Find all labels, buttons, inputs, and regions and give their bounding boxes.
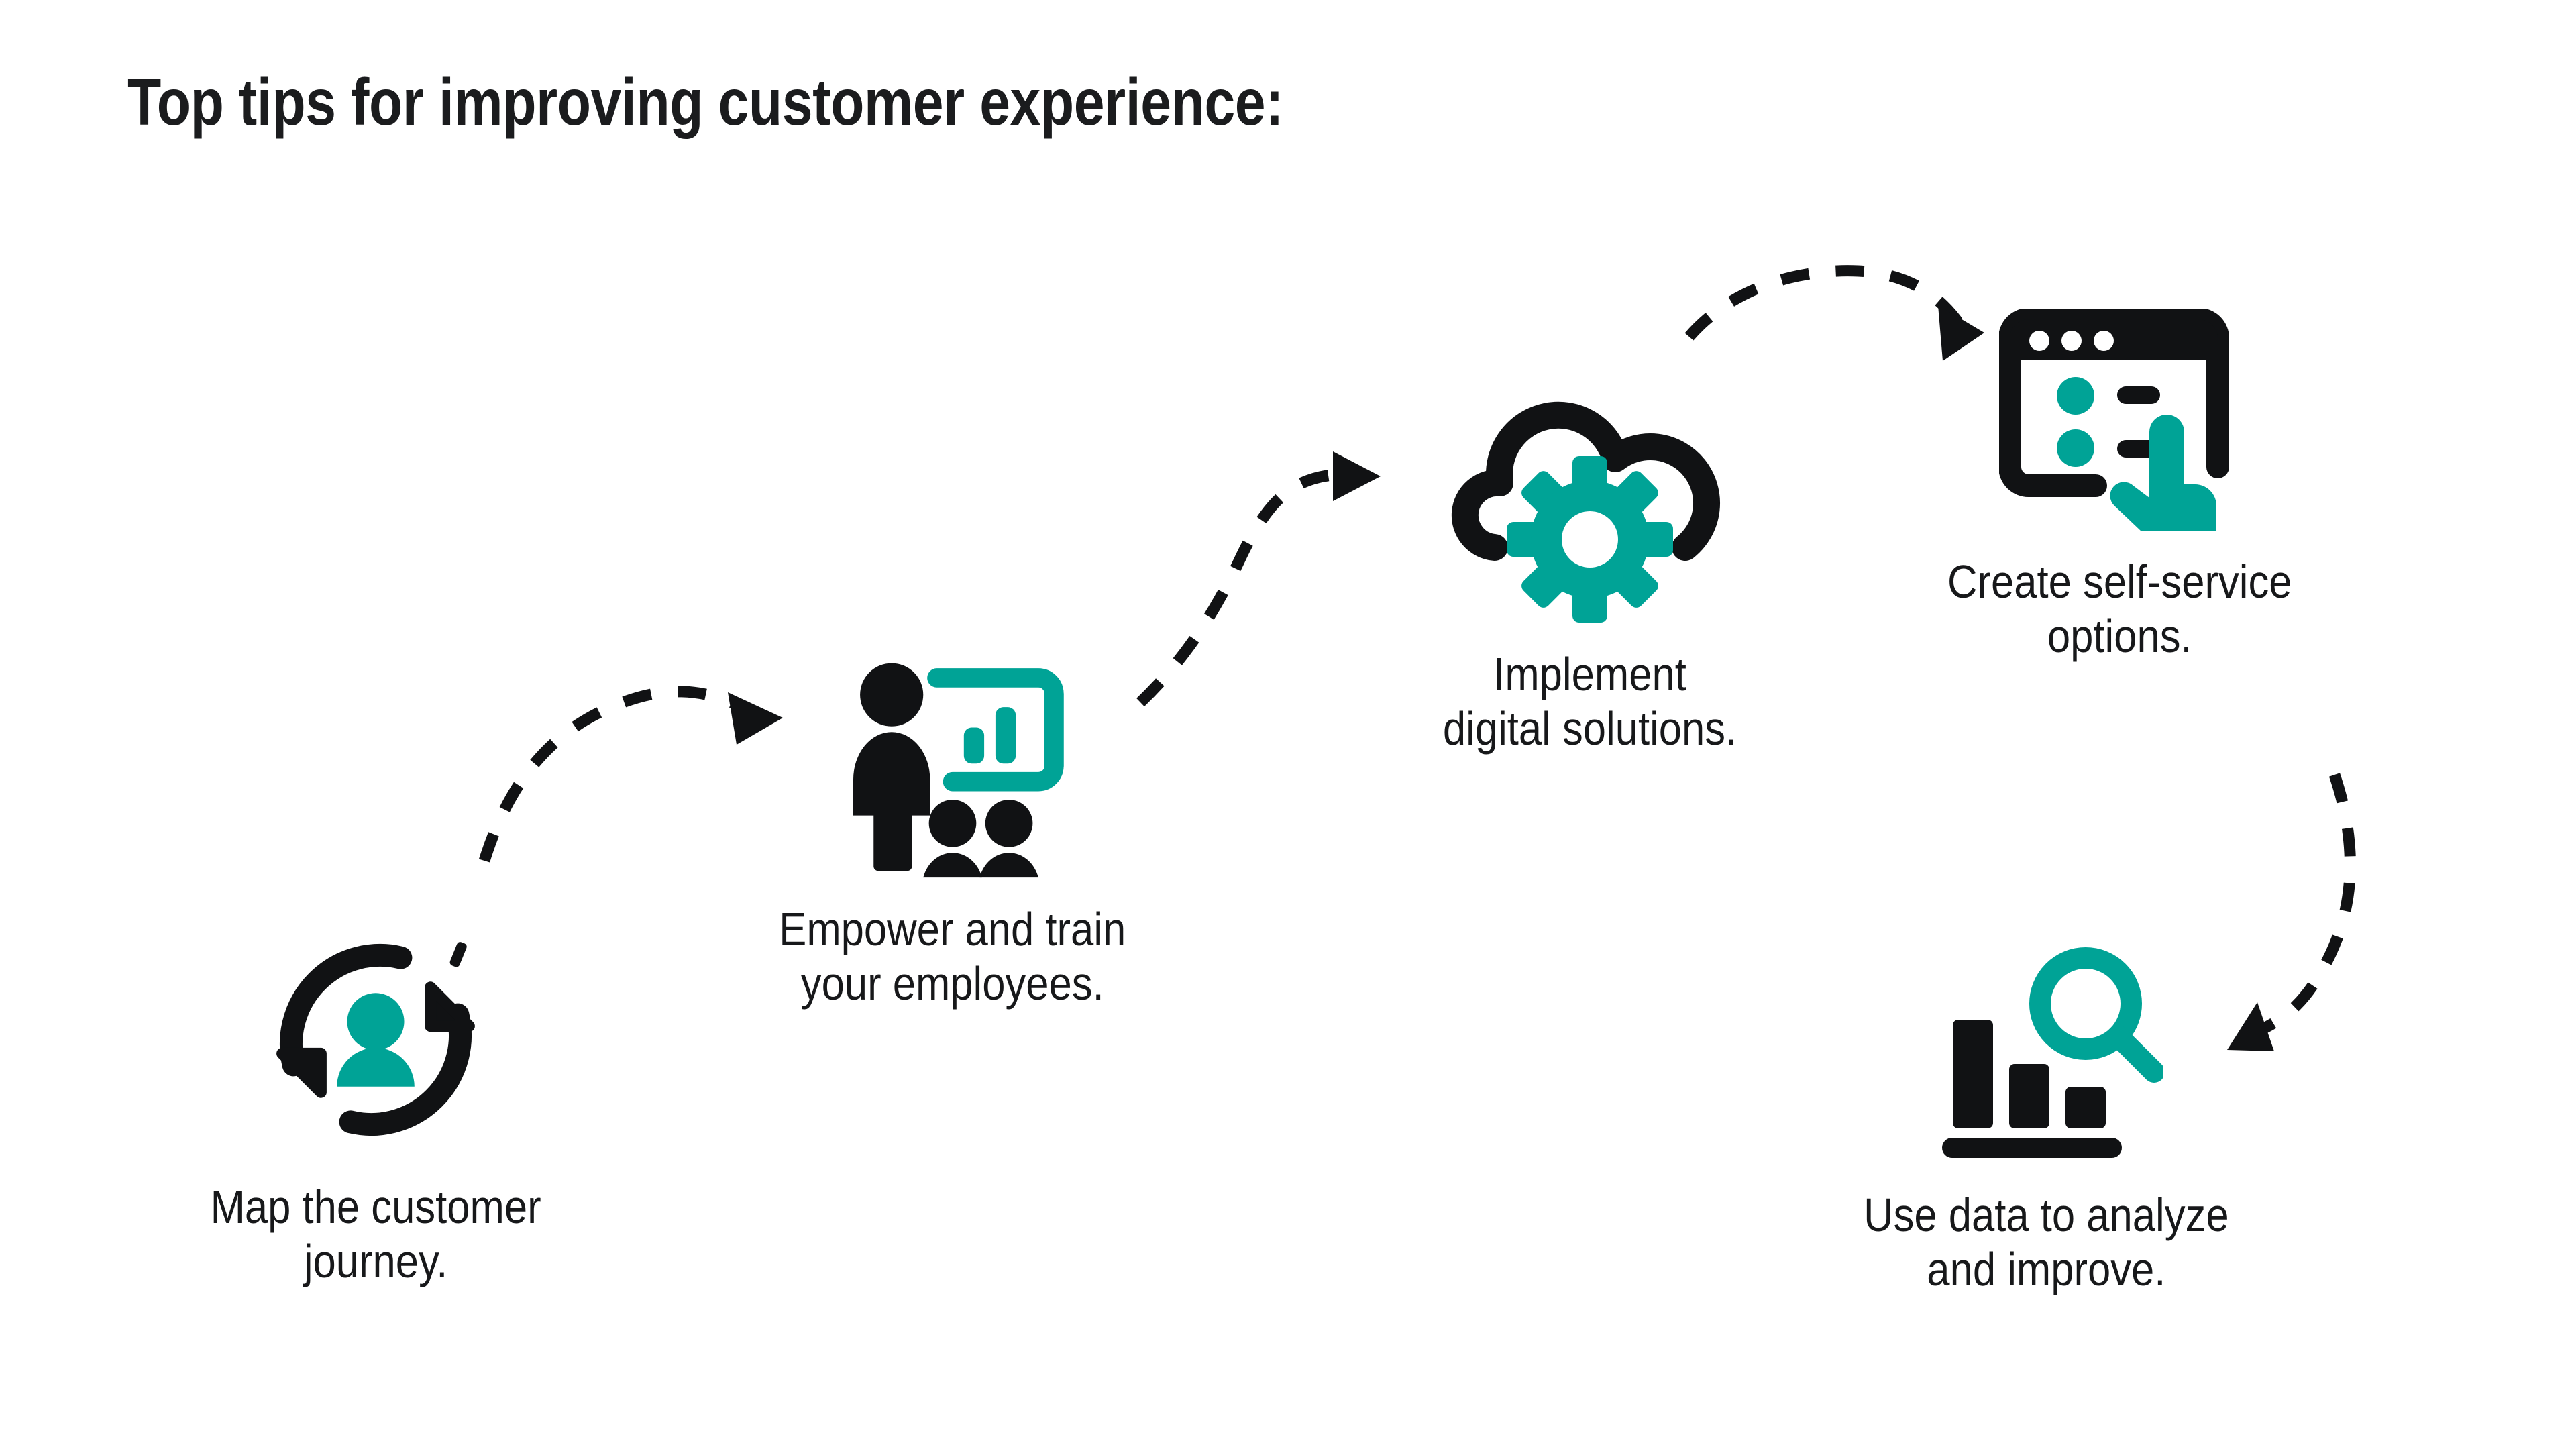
step-label: Create self-service options. [1947,555,2292,663]
step-label: Implement digital solutions. [1443,647,1737,756]
customer-journey-cycle-icon [262,926,490,1157]
step-create-self-service-options[interactable]: Create self-service options. [1851,309,2388,663]
step-use-data-analyze-improve[interactable]: Use data to analyze and improve. [1778,939,2314,1297]
step-label: Empower and train your employees. [779,902,1126,1011]
employee-training-presentation-icon [828,657,1077,882]
step-label: Map the customer journey. [210,1180,541,1289]
step-map-customer-journey[interactable]: Map the customer journey. [121,926,631,1289]
self-service-window-click-icon [1999,309,2241,540]
cloud-gear-icon [1449,376,1731,634]
step-empower-train-employees[interactable]: Empower and train your employees. [671,657,1234,1011]
page-title: Top tips for improving customer experien… [127,64,1283,140]
bar-chart-magnifier-icon [1929,939,2163,1164]
step-label: Use data to analyze and improve. [1864,1188,2229,1297]
step-implement-digital-solutions[interactable]: Implement digital solutions. [1335,376,1845,756]
